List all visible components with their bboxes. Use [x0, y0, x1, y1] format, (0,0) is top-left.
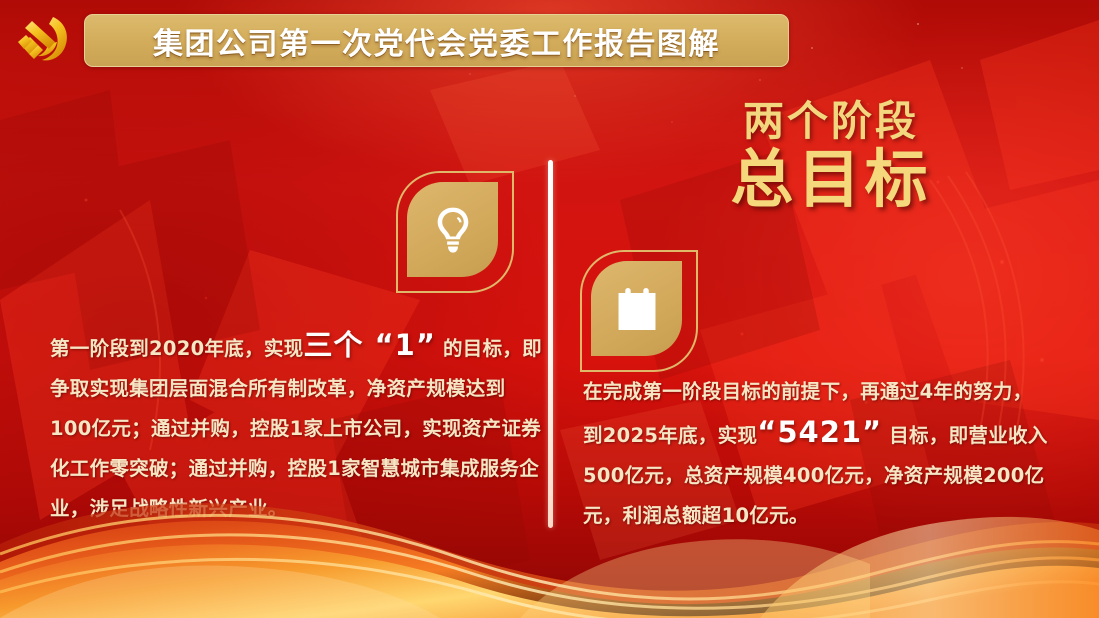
lightbulb-icon: [407, 182, 498, 277]
stage-one-badge: [396, 171, 514, 293]
header-bar: 集团公司第一次党代会党委工作报告图解: [0, 0, 1099, 80]
emphasis-text: 三个 “1”: [303, 328, 435, 362]
slide-root: 集团公司第一次党代会党委工作报告图解 两个阶段 总目标: [0, 0, 1099, 618]
stage-two-badge: [580, 250, 698, 372]
presentation-title-plate: 集团公司第一次党代会党委工作报告图解: [84, 14, 789, 67]
body-text: 的目标，即争取实现集团层面混合所有制改革，净资产规模达到100亿元；通过并购，控…: [50, 337, 542, 520]
heading-line-1: 两个阶段: [661, 100, 1001, 143]
presentation-title: 集团公司第一次党代会党委工作报告图解: [153, 19, 720, 63]
stage-two-paragraph: 在完成第一阶段目标的前提下，再通过4年的努力，到2025年底，实现“5421” …: [583, 372, 1050, 536]
section-heading: 两个阶段 总目标: [661, 100, 1001, 213]
stage-one-paragraph: 第一阶段到2020年底，实现三个 “1” 的目标，即争取实现集团层面混合所有制改…: [50, 325, 542, 529]
emphasis-text: “5421”: [757, 415, 882, 449]
ccp-party-emblem-icon: [8, 9, 78, 71]
body-text: 第一阶段到2020年底，实现: [50, 337, 303, 360]
heading-line-2: 总目标: [661, 145, 1001, 213]
vertical-divider: [548, 160, 553, 528]
calendar-icon: [591, 261, 682, 356]
